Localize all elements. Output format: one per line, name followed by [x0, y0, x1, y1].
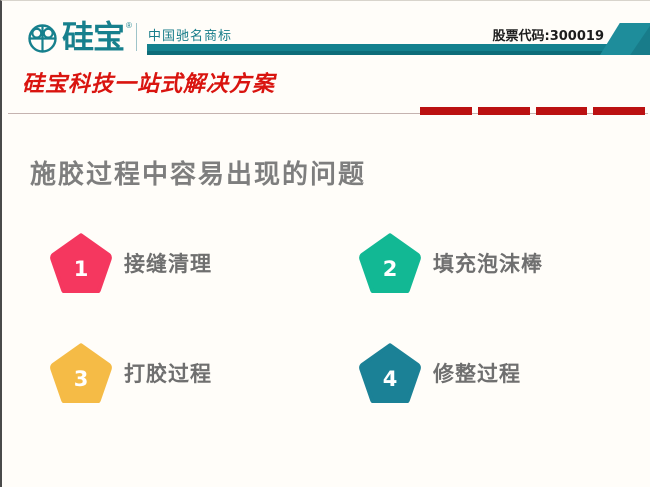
trademark-label: 中国驰名商标 — [148, 25, 232, 44]
brand-name: 硅宝 — [62, 18, 124, 56]
list-item-step-2[interactable]: 2 填充泡沫棒 — [359, 233, 543, 293]
pentagon-badge-1: 1 — [50, 233, 112, 293]
pentagon-badge-2: 2 — [359, 233, 421, 293]
list-item-step-4[interactable]: 4 修整过程 — [359, 343, 521, 403]
step-number: 2 — [359, 233, 421, 293]
pentagon-badge-4: 4 — [359, 343, 421, 403]
step-number: 3 — [50, 343, 112, 403]
step-number: 4 — [359, 343, 421, 403]
stock-code-label: 股票代码:300019 — [493, 25, 604, 44]
red-dash — [536, 107, 588, 115]
step-number: 1 — [50, 233, 112, 293]
step-label: 接缝清理 — [124, 248, 212, 278]
pentagon-badge-3: 3 — [50, 343, 112, 403]
step-label: 修整过程 — [433, 358, 521, 388]
red-dash — [420, 107, 472, 115]
step-label: 填充泡沫棒 — [433, 248, 543, 278]
company-slogan: 硅宝科技一站式解决方案 — [22, 66, 275, 98]
red-dash — [478, 107, 530, 115]
list-item-step-3[interactable]: 3 打胶过程 — [50, 343, 212, 403]
slide-canvas: 硅宝 ® 中国驰名商标 股票代码:300019 硅宝科技一站式解决方案 施胶过程… — [0, 0, 650, 487]
siliconbao-circle-logo-icon — [28, 24, 57, 53]
step-label: 打胶过程 — [124, 358, 212, 388]
page-title: 施胶过程中容易出现的问题 — [30, 154, 366, 191]
registered-trademark-icon: ® — [126, 21, 132, 30]
header-red-dashes — [420, 107, 645, 115]
header-teal-band-shadow — [147, 51, 622, 55]
slide-header: 硅宝 ® 中国驰名商标 股票代码:300019 硅宝科技一站式解决方案 — [2, 1, 650, 114]
red-dash — [593, 107, 645, 115]
list-item-step-1[interactable]: 1 接缝清理 — [50, 233, 212, 293]
logo-divider — [136, 23, 137, 51]
